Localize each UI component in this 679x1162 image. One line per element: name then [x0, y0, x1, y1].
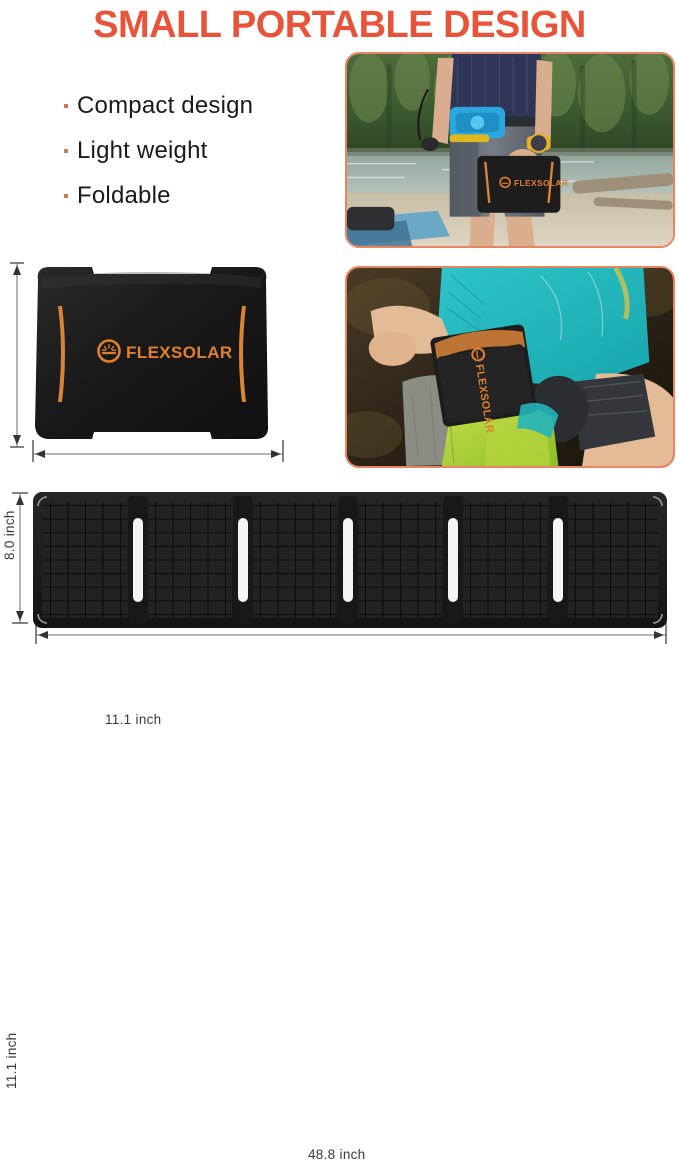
bullet-dot-icon	[64, 104, 68, 108]
bullet-dot-icon	[64, 149, 68, 153]
feature-list: Compact design Light weight Foldable	[64, 92, 334, 227]
page-title: SMALL PORTABLE DESIGN	[0, 0, 679, 48]
folded-width-label: 11.1 inch	[105, 712, 162, 727]
photo-man-carrying-folded-panel-at-river: FLEXSOLAR	[345, 52, 675, 248]
photo-person-packing-panel-into-backpack: FLEXSOLAR	[345, 266, 675, 468]
photo-pack-image: FLEXSOLAR	[347, 268, 673, 466]
bullet-dot-icon	[64, 194, 68, 198]
folded-panel-diagram: FLEXSOLAR 8.0 inch 11.1 inch	[0, 250, 320, 490]
folded-panel-illustration: FLEXSOLAR	[28, 262, 276, 444]
unfolded-height-label: 11.1 inch	[4, 1033, 19, 1090]
svg-text:FLEXSOLAR: FLEXSOLAR	[126, 343, 233, 362]
feature-label: Foldable	[77, 182, 171, 210]
photo-carry-image: FLEXSOLAR	[347, 54, 673, 246]
list-item: Compact design	[64, 92, 334, 120]
list-item: Foldable	[64, 182, 334, 210]
feature-label: Light weight	[77, 137, 208, 165]
list-item: Light weight	[64, 137, 334, 165]
unfolded-panel-illustration	[33, 492, 667, 628]
feature-label: Compact design	[77, 92, 253, 120]
svg-text:FLEXSOLAR: FLEXSOLAR	[514, 178, 568, 188]
unfolded-panel-diagram: 11.1 inch 48.8 inch	[0, 484, 679, 687]
unfolded-width-label: 48.8 inch	[308, 1147, 366, 1162]
